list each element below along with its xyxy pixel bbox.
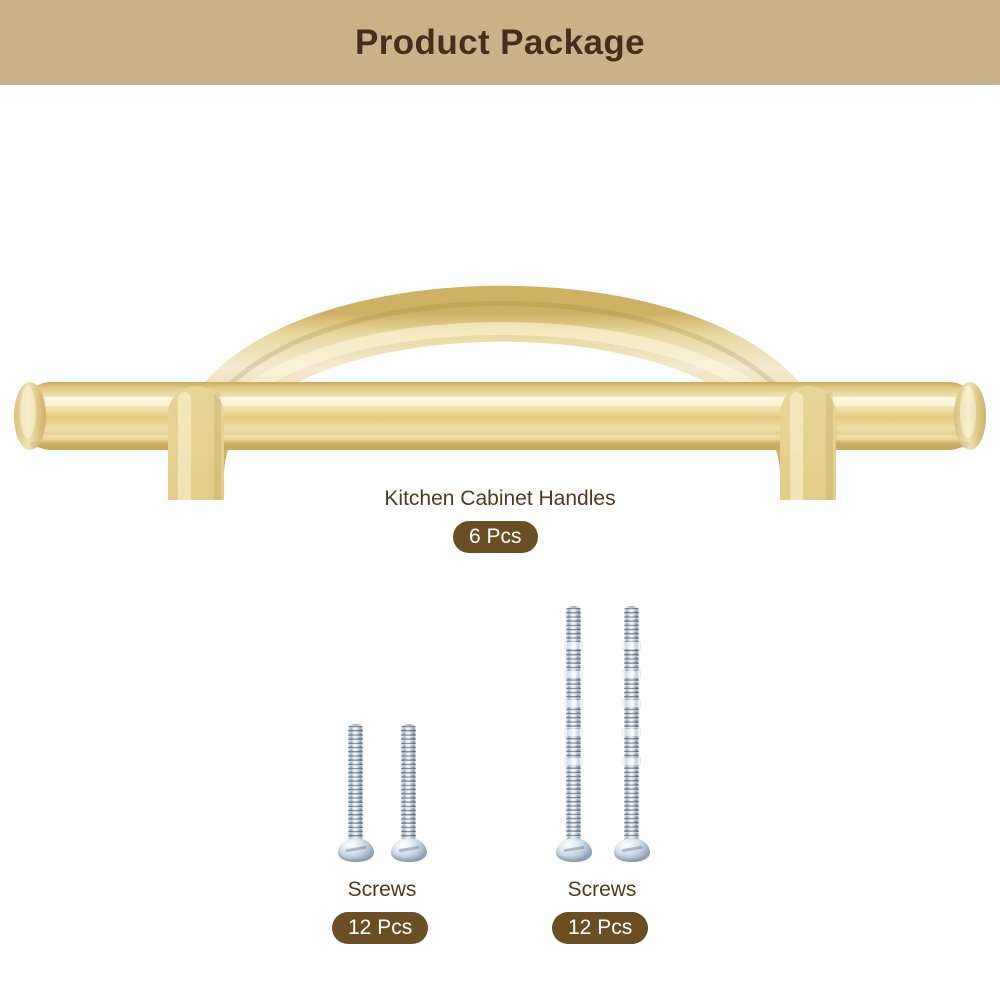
screw-breakaway-notch	[623, 642, 640, 649]
screw-long-1	[566, 608, 581, 846]
screws-long-label: Screws	[502, 878, 702, 902]
screw-short-2	[401, 726, 416, 846]
screw-breakaway-notch	[623, 700, 640, 707]
screw-breakaway-notch	[565, 642, 582, 649]
cabinet-handle-svg	[0, 150, 1000, 500]
screw-threads	[401, 726, 416, 846]
screw-breakaway-notch	[623, 758, 640, 765]
screws-long-quantity-badge: 12 Pcs	[552, 912, 648, 944]
screw-head-4	[614, 838, 650, 862]
screw-breakaway-notch	[623, 729, 640, 736]
page-title: Product Package	[355, 23, 645, 63]
screw-head-3	[556, 838, 592, 862]
screw-breakaway-notch	[623, 671, 640, 678]
screw-threads	[348, 726, 363, 846]
screw-short-1	[348, 726, 363, 846]
handle-bar	[14, 382, 986, 450]
screw-breakaway-notch	[565, 758, 582, 765]
screw-breakaway-notch	[565, 729, 582, 736]
screw-head-2	[391, 838, 427, 862]
screw-breakaway-notch	[565, 700, 582, 707]
screw-breakaway-notch	[565, 671, 582, 678]
handle-quantity-badge: 6 Pcs	[453, 521, 538, 553]
screw-long-2	[624, 608, 639, 846]
screws-short-group	[330, 720, 440, 870]
screw-head-1	[338, 838, 374, 862]
cabinet-handle-image	[0, 150, 1000, 500]
screws-short-quantity-badge: 12 Pcs	[332, 912, 428, 944]
screws-short-label: Screws	[282, 878, 482, 902]
screws-long-group	[548, 602, 658, 870]
handle-label: Kitchen Cabinet Handles	[0, 487, 1000, 511]
header-banner: Product Package	[0, 0, 1000, 85]
